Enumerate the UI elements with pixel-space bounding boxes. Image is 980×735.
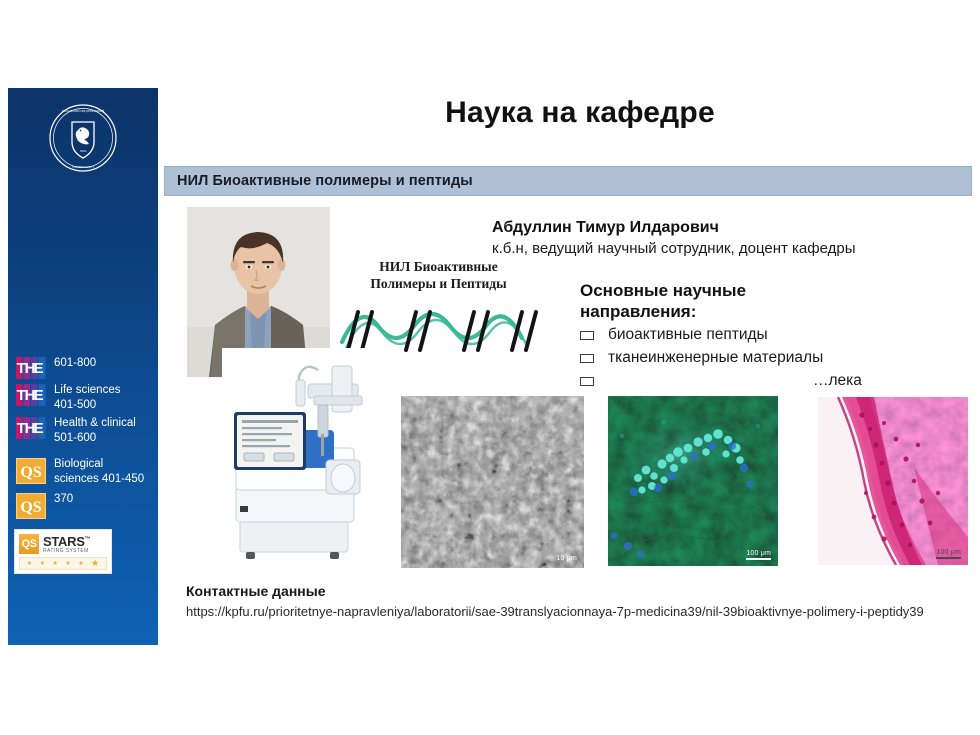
svg-text:КАЗАНСКИЙ ФЕДЕРАЛЬНЫЙ: КАЗАНСКИЙ ФЕДЕРАЛЬНЫЙ <box>62 108 105 113</box>
ranking-line: Health & clinical <box>54 416 136 431</box>
qs-stars-subtitle: RATING SYSTEM <box>43 549 90 554</box>
page-title: Наука на кафедре <box>300 96 860 130</box>
star-icon: ★ <box>65 561 70 567</box>
spacer <box>8 449 158 457</box>
sidebar-panel: КАЗАНСКИЙ ФЕДЕРАЛЬНЫЙ УНИВЕРСИТЕТ 1804 T… <box>8 88 158 645</box>
ranking-line: Biological <box>54 457 144 472</box>
nil-lab-logo: НИЛ Биоактивные Полимеры и Пептиды <box>336 258 541 358</box>
lab-name-label: НИЛ Биоактивные полимеры и пептиды <box>165 173 473 189</box>
person-name: Абдуллин Тимур Илдарович <box>492 219 719 237</box>
the-logo-icon: THE <box>16 357 46 379</box>
svg-text:QS: QS <box>20 464 41 481</box>
square-bullet-icon <box>580 354 594 363</box>
ranking-item: THE Health & clinical 501-600 <box>8 416 158 445</box>
research-directions-list: биоактивные пептиды тканеинженерные мате… <box>580 324 910 393</box>
ranking-line: 401-500 <box>54 398 120 413</box>
sem-scalebar: 10 μm <box>556 555 577 562</box>
ranking-line: sciences 401-450 <box>54 472 144 487</box>
rankings-list: THE 601-800 THE Life <box>8 356 158 574</box>
star-icon: ★ <box>78 561 83 567</box>
ranking-item: QS 370 <box>8 492 158 519</box>
kfu-crest-icon: КАЗАНСКИЙ ФЕДЕРАЛЬНЫЙ УНИВЕРСИТЕТ 1804 <box>47 102 119 174</box>
svg-text:E: E <box>34 360 44 377</box>
qs-logo-icon: QS <box>16 493 46 519</box>
person-role: к.б.н, ведущий научный сотрудник, доцент… <box>492 240 856 257</box>
fluorescence-micrograph-image: 100 μm <box>608 396 778 566</box>
the-logo-icon: THE <box>16 417 46 439</box>
ranking-item: THE 601-800 <box>8 356 158 379</box>
qs-stars-title: STARS <box>43 534 85 549</box>
nil-logo-caption: НИЛ Биоактивные Полимеры и Пептиды <box>336 258 541 292</box>
qs-stars-header: QS STARS™ RATING SYSTEM <box>19 534 107 554</box>
star-icon: ★ <box>27 561 32 567</box>
ranking-line: Life sciences <box>54 383 120 398</box>
contacts-url[interactable]: https://kpfu.ru/prioritetnye-napravleniy… <box>186 603 976 620</box>
directions-heading-line1: Основные научные <box>580 280 810 301</box>
list-item: биоактивные пептиды <box>580 324 910 345</box>
directions-heading-line2: направления: <box>580 301 810 322</box>
list-item: тканеинженерные материалы <box>580 347 910 368</box>
list-item-label: биоактивные пептиды <box>608 324 910 345</box>
svg-text:E: E <box>34 420 44 437</box>
list-item-label: тканеинженерные материалы <box>608 347 910 368</box>
square-bullet-icon <box>580 377 594 386</box>
nil-logo-line1: НИЛ Биоактивные <box>336 258 541 275</box>
the-logo-icon: THE <box>16 384 46 406</box>
star-icon-highlight: ★ <box>91 559 99 568</box>
fluorescence-scalebar-label: 100 μm <box>746 550 771 557</box>
ranking-line: 370 <box>54 492 73 507</box>
nil-logo-line2: Полимеры и Пептиды <box>336 275 541 292</box>
lab-name-bar: НИЛ Биоактивные полимеры и пептиды <box>164 166 972 196</box>
ranking-item: THE Life sciences 401-500 <box>8 383 158 412</box>
instrument-photo <box>222 348 382 573</box>
histology-image: 100 μm <box>818 397 968 565</box>
svg-text:E: E <box>34 387 44 404</box>
sem-micrograph-image: 10 μm <box>400 395 585 569</box>
list-item-label: …лека <box>608 370 910 391</box>
fluorescence-scalebar: 100 μm <box>746 550 771 560</box>
ranking-line: 501-600 <box>54 431 136 446</box>
histology-scalebar: 100 μm <box>936 549 961 559</box>
ranking-line: 601-800 <box>54 356 96 371</box>
contacts-heading: Контактные данные <box>186 583 325 599</box>
svg-text:1804: 1804 <box>80 149 87 153</box>
trademark-mark: ™ <box>85 536 91 542</box>
presentation-slide: КАЗАНСКИЙ ФЕДЕРАЛЬНЫЙ УНИВЕРСИТЕТ 1804 T… <box>0 0 980 735</box>
square-bullet-icon <box>580 331 594 340</box>
qs-stars-badge: QS STARS™ RATING SYSTEM ★ ★ ★ ★ ★ ★ <box>14 529 112 574</box>
star-icon: ★ <box>40 561 45 567</box>
qs-square-icon: QS <box>19 534 39 554</box>
star-icon: ★ <box>52 561 57 567</box>
qs-stars-wordmark: STARS™ RATING SYSTEM <box>43 535 90 554</box>
qs-stars-rating-strip: ★ ★ ★ ★ ★ ★ <box>19 557 107 570</box>
ranking-item: QS Biological sciences 401-450 <box>8 457 158 486</box>
research-directions-heading: Основные научные направления: <box>580 280 810 322</box>
svg-text:УНИВЕРСИТЕТ: УНИВЕРСИТЕТ <box>72 165 94 169</box>
qs-logo-icon: QS <box>16 458 46 484</box>
svg-text:QS: QS <box>20 499 41 516</box>
histology-scalebar-label: 100 μm <box>936 549 961 556</box>
list-item: …лека <box>580 370 910 391</box>
